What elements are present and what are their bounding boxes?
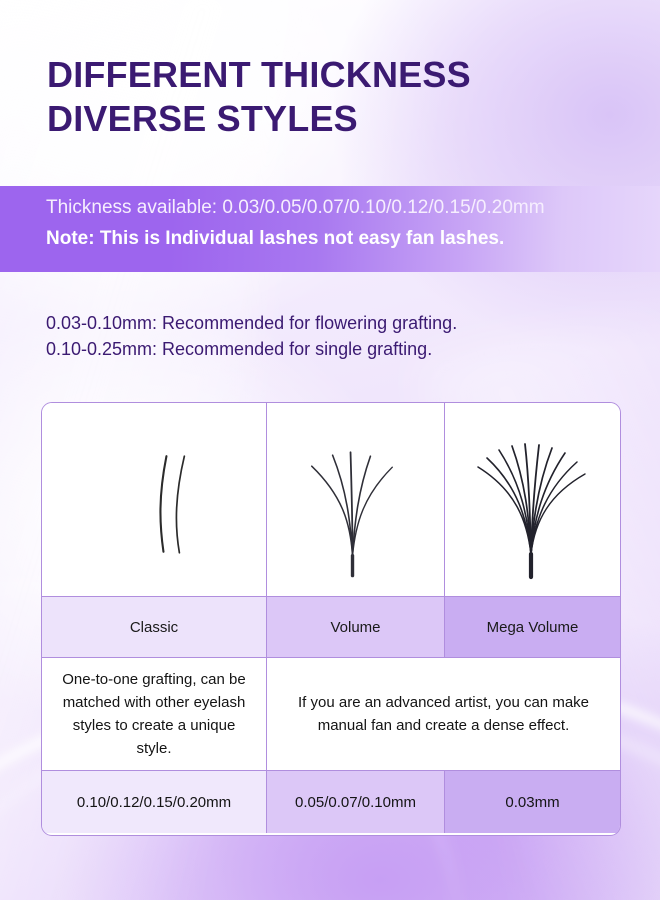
table-row-illustrations	[42, 403, 620, 597]
thickness-mega-volume: 0.03mm	[445, 771, 620, 833]
table-row-thickness: 0.10/0.12/0.15/0.20mm 0.05/0.07/0.10mm 0…	[42, 771, 620, 833]
classic-lash-illustration	[42, 403, 267, 596]
product-infographic: DIFFERENT THICKNESS DIVERSE STYLES Thick…	[0, 0, 660, 900]
thickness-classic: 0.10/0.12/0.15/0.20mm	[42, 771, 267, 833]
recommendation-item-single: 0.10-0.25mm: Recommended for single graf…	[46, 336, 457, 362]
description-volume-mega: If you are an advanced artist, you can m…	[267, 658, 620, 770]
page-title-line-2: DIVERSE STYLES	[47, 97, 607, 141]
thickness-available-text: Thickness available: 0.03/0.05/0.07/0.10…	[46, 197, 545, 219]
recommendation-list: 0.03-0.10mm: Recommended for flowering g…	[46, 310, 457, 362]
style-header-classic: Classic	[42, 597, 267, 657]
volume-fan-illustration	[267, 403, 445, 596]
page-title-line-1: DIFFERENT THICKNESS	[47, 54, 471, 95]
note-text: Note: This is Individual lashes not easy…	[46, 228, 504, 250]
table-row-headers: Classic Volume Mega Volume	[42, 597, 620, 658]
recommendation-item-flowering: 0.03-0.10mm: Recommended for flowering g…	[46, 310, 457, 336]
style-header-mega-volume: Mega Volume	[445, 597, 620, 657]
thickness-banner: Thickness available: 0.03/0.05/0.07/0.10…	[0, 186, 660, 272]
thickness-volume: 0.05/0.07/0.10mm	[267, 771, 445, 833]
mega-volume-fan-illustration	[445, 403, 620, 596]
lash-styles-table: Classic Volume Mega Volume One-to-one gr…	[41, 402, 621, 836]
page-title: DIFFERENT THICKNESS DIVERSE STYLES	[47, 53, 607, 141]
style-header-volume: Volume	[267, 597, 445, 657]
description-classic: One-to-one grafting, can be matched with…	[42, 658, 267, 770]
table-row-descriptions: One-to-one grafting, can be matched with…	[42, 658, 620, 771]
